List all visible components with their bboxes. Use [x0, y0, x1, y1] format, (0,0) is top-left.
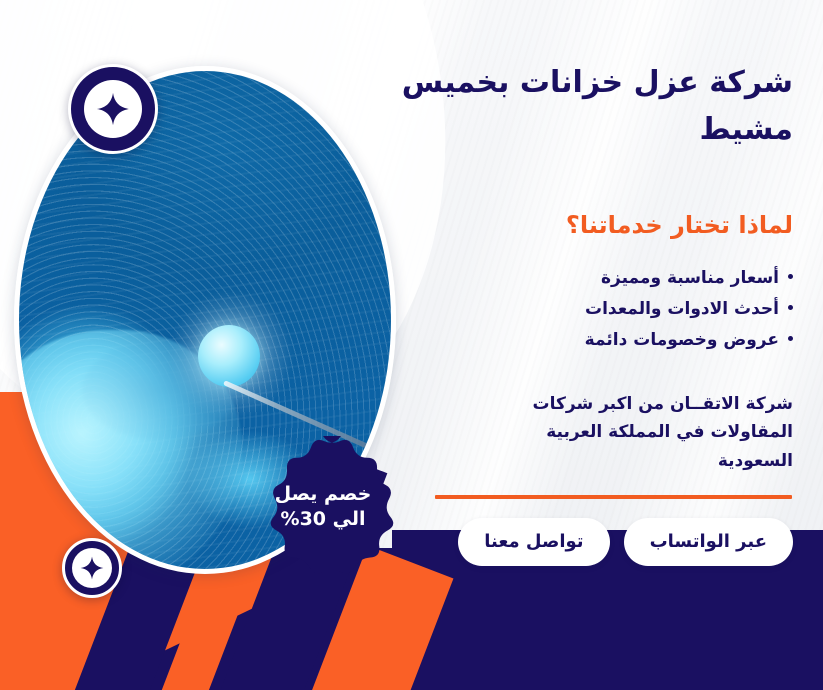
- content-column: شركة عزل خزانات بخميس مشيط لماذا تختار خ…: [373, 60, 793, 566]
- benefits-list: أسعار مناسبة ومميزة أحدث الادوات والمعدا…: [373, 263, 793, 356]
- cta-button-row: عبر الواتساب تواصل معنا: [373, 518, 793, 566]
- bullet-dot-icon: [788, 336, 793, 341]
- section-subtitle: لماذا تختار خدماتنا؟: [373, 210, 793, 241]
- bullet-dot-icon: [788, 274, 793, 279]
- promo-banner: خصم يصل الي 30% شركة عزل خزانات بخميس مش…: [0, 0, 823, 690]
- logo-inner-disc: [84, 80, 142, 138]
- logo-badge-large[interactable]: [68, 64, 158, 154]
- whatsapp-button[interactable]: عبر الواتساب: [624, 518, 793, 566]
- list-item: عروض وخصومات دائمة: [373, 325, 793, 356]
- bullet-dot-icon: [788, 305, 793, 310]
- list-item-label: أسعار مناسبة ومميزة: [601, 268, 779, 288]
- water-ball: [198, 325, 260, 387]
- sparkle-icon: [96, 92, 130, 126]
- logo-badge-small[interactable]: [62, 538, 122, 598]
- page-title: شركة عزل خزانات بخميس مشيط: [373, 60, 793, 154]
- list-item-label: عروض وخصومات دائمة: [585, 330, 779, 350]
- sparkle-icon: [80, 556, 104, 580]
- discount-line-2: الي 30%: [281, 507, 366, 532]
- company-description: شركة الاتقــان من اكبر شركات المقاولات ف…: [493, 390, 793, 476]
- contact-us-button[interactable]: تواصل معنا: [458, 518, 609, 566]
- list-item-label: أحدث الادوات والمعدات: [585, 299, 779, 319]
- list-item: أحدث الادوات والمعدات: [373, 294, 793, 325]
- logo-inner-disc-small: [72, 548, 112, 588]
- discount-line-1: خصم يصل: [275, 482, 372, 507]
- list-item: أسعار مناسبة ومميزة: [373, 263, 793, 294]
- orange-divider: [435, 495, 792, 499]
